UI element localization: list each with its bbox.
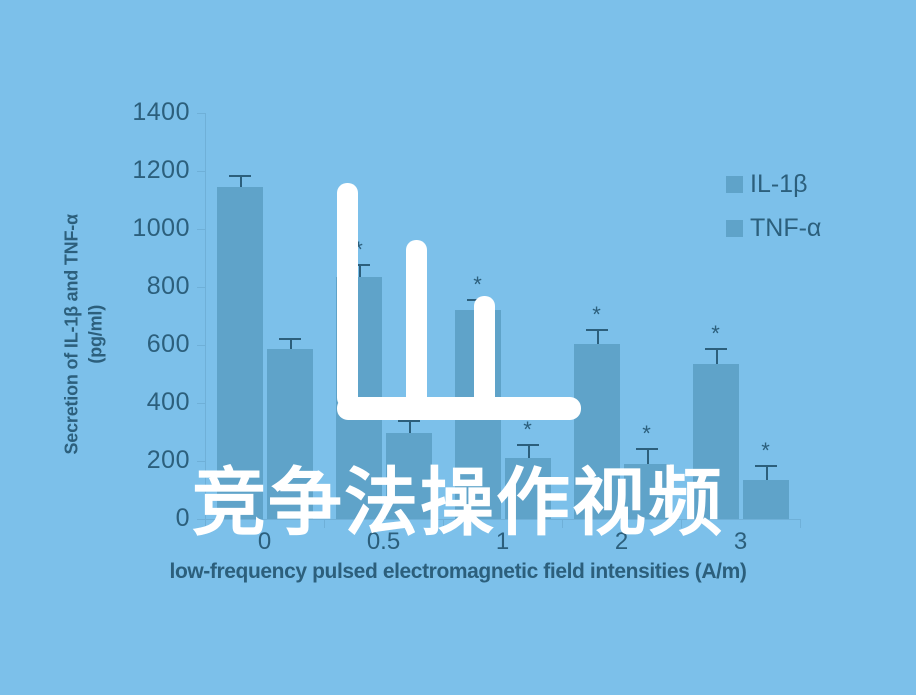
x-axis-tick <box>205 519 206 528</box>
x-axis-tick-label: 0.5 <box>344 528 424 556</box>
x-axis-tick <box>324 519 325 528</box>
legend-item-tnfa: TNF-α <box>726 206 821 250</box>
y-axis-tick <box>197 461 205 462</box>
y-axis-tick-label: 600 <box>100 332 190 357</box>
x-axis-tick <box>443 519 444 528</box>
y-axis-tick <box>197 229 205 230</box>
x-axis-tick <box>800 519 801 528</box>
y-axis-tick <box>197 519 205 520</box>
bar-tnfa-0 <box>267 349 313 519</box>
bar-il1b-0.5 <box>336 277 382 519</box>
y-axis-tick-label: 200 <box>100 448 190 473</box>
y-axis-tick-label: 1000 <box>100 216 190 241</box>
y-axis-tick-label: 800 <box>100 274 190 299</box>
error-bar-stem <box>716 348 718 364</box>
x-axis-line <box>205 519 801 520</box>
bar-tnfa-0.5 <box>386 433 432 519</box>
y-axis-tick-label: 1400 <box>100 100 190 125</box>
bar-tnfa-3 <box>743 480 789 519</box>
error-bar-cap <box>755 465 777 467</box>
significance-marker: * <box>704 323 728 345</box>
x-axis-tick <box>681 519 682 528</box>
y-axis-tick <box>197 403 205 404</box>
legend: IL-1β TNF-α <box>726 162 821 250</box>
error-bar-cap <box>279 338 301 340</box>
error-bar-cap <box>586 329 608 331</box>
error-bar-stem <box>597 329 599 344</box>
error-bar-cap <box>705 348 727 350</box>
x-axis-tick-label: 1 <box>463 528 543 556</box>
bar-tnfa-2 <box>624 464 670 519</box>
error-bar-stem <box>647 448 649 464</box>
significance-marker: * <box>635 423 659 445</box>
x-axis-tick-label: 0 <box>225 528 305 556</box>
y-axis-title-line1: Secretion of IL-1β and TNF-α <box>62 214 82 454</box>
significance-marker: * <box>754 440 778 462</box>
significance-marker: * <box>585 304 609 326</box>
legend-label-tnfa: TNF-α <box>750 216 821 241</box>
y-axis-tick-label: 0 <box>100 506 190 531</box>
error-bar-stem <box>528 444 530 459</box>
x-axis-tick <box>562 519 563 528</box>
bar-chart: Secretion of IL-1β and TNF-α (pg/ml) 020… <box>0 0 916 695</box>
bar-il1b-1 <box>455 310 501 519</box>
legend-item-il1b: IL-1β <box>726 162 821 206</box>
bar-tnfa-1 <box>505 458 551 519</box>
legend-swatch-il1b <box>726 176 743 193</box>
y-axis-tick <box>197 287 205 288</box>
error-bar-cap <box>348 264 370 266</box>
bar-il1b-3 <box>693 364 739 519</box>
error-bar-cap <box>636 448 658 450</box>
x-axis-tick-label: 2 <box>582 528 662 556</box>
bar-il1b-0 <box>217 187 263 519</box>
error-bar-cap <box>467 299 489 301</box>
legend-swatch-tnfa <box>726 220 743 237</box>
plot-area: ******* <box>205 113 800 519</box>
significance-marker: * <box>466 274 490 296</box>
y-axis-tick <box>197 345 205 346</box>
significance-marker: * <box>516 419 540 441</box>
legend-label-il1b: IL-1β <box>750 172 807 197</box>
error-bar-cap <box>229 175 251 177</box>
significance-marker: * <box>347 239 371 261</box>
y-axis-tick <box>197 171 205 172</box>
error-bar-cap <box>398 420 420 422</box>
x-axis-tick-label: 3 <box>701 528 781 556</box>
bar-il1b-2 <box>574 344 620 519</box>
y-axis-tick <box>197 113 205 114</box>
y-axis-tick-label: 400 <box>100 390 190 415</box>
error-bar-cap <box>517 444 539 446</box>
x-axis-title: low-frequency pulsed electromagnetic fie… <box>0 560 916 584</box>
y-axis-tick-label: 1200 <box>100 158 190 183</box>
error-bar-stem <box>766 465 768 480</box>
